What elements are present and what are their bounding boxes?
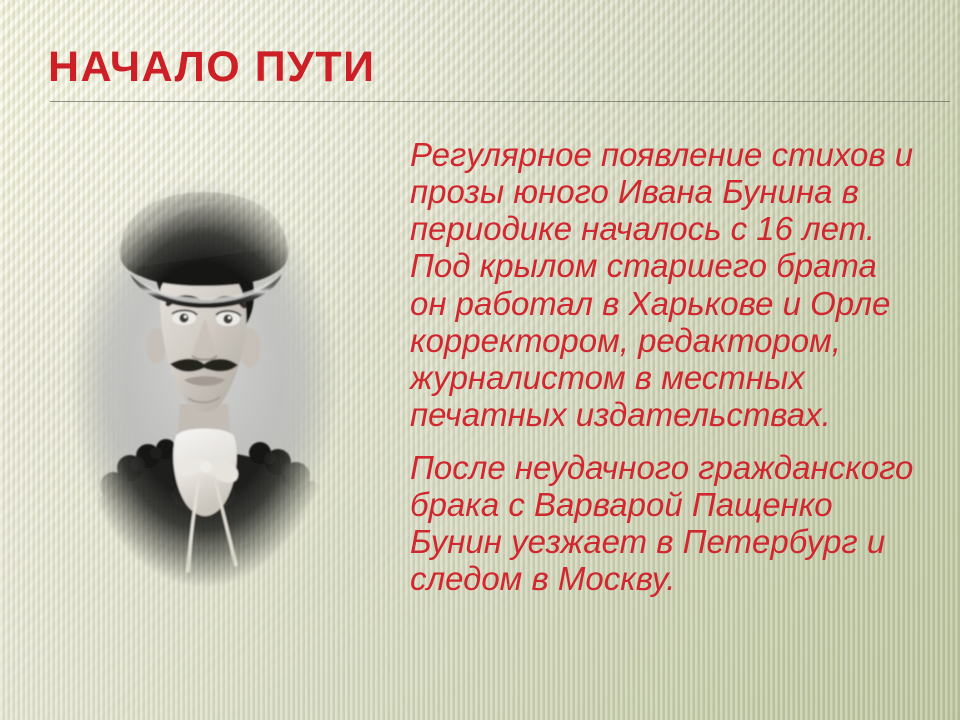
body-paragraph-1: Регулярное появление стихов и прозы юног… bbox=[410, 136, 922, 433]
title-divider-rule bbox=[50, 101, 950, 102]
portrait-photo bbox=[64, 168, 344, 596]
body-paragraph-2: После неудачного гражданского брака с Ва… bbox=[410, 449, 922, 598]
slide-canvas: НАЧАЛО ПУТИ bbox=[0, 0, 960, 720]
portrait-illustration bbox=[64, 168, 344, 596]
body-text-block: Регулярное появление стихов и прозы юног… bbox=[410, 136, 922, 598]
slide-title: НАЧАЛО ПУТИ bbox=[48, 46, 376, 89]
